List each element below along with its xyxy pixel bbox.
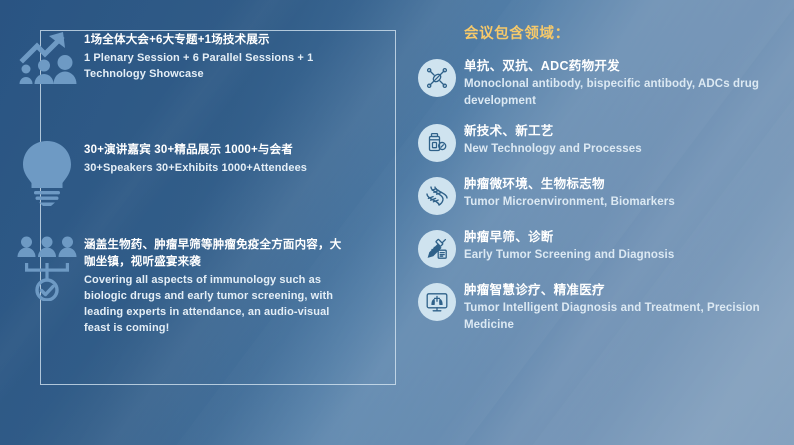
growth-chart-people-icon — [10, 30, 84, 88]
syringe-report-icon — [418, 230, 456, 268]
section-title: 会议包含领域： — [464, 22, 794, 43]
topic-title-cn: 新技术、新工艺 — [464, 122, 642, 140]
pill-bottle-icon — [418, 124, 456, 162]
org-chart-people-check-icon — [10, 235, 84, 301]
topic-item: 新技术、新工艺 New Technology and Processes — [418, 122, 794, 162]
topic-title-cn: 肿瘤微环境、生物标志物 — [464, 175, 675, 193]
feature-title-cn: 1场全体大会+6大专题+1场技术展示 — [84, 32, 350, 49]
feature-title-cn: 30+演讲嘉宾 30+精品展示 1000+与会者 — [84, 142, 307, 159]
topic-title-en: Early Tumor Screening and Diagnosis — [464, 247, 674, 264]
feature-title-en: 1 Plenary Session + 6 Parallel Sessions … — [84, 50, 350, 82]
topic-item: 肿瘤早筛、诊断 Early Tumor Screening and Diagno… — [418, 228, 794, 268]
topic-item: 肿瘤智慧诊疗、精准医疗 Tumor Intelligent Diagnosis … — [418, 281, 794, 333]
topic-title-en: Tumor Microenvironment, Biomarkers — [464, 194, 675, 211]
feature-item: 30+演讲嘉宾 30+精品展示 1000+与会者 30+Speakers 30+… — [10, 140, 350, 206]
topic-title-cn: 肿瘤早筛、诊断 — [464, 228, 674, 246]
dna-helix-icon — [418, 177, 456, 215]
feature-item: 涵盖生物药、肿瘤早筛等肿瘤免疫全方面内容，大咖坐镇，视听盛宴来袭 Coverin… — [10, 235, 350, 336]
monitor-lungs-icon — [418, 283, 456, 321]
feature-title-cn: 涵盖生物药、肿瘤早筛等肿瘤免疫全方面内容，大咖坐镇，视听盛宴来袭 — [84, 237, 350, 271]
topics-column: 会议包含领域： 单抗、双抗、ADC药物开发 Monoclonal antibod… — [418, 22, 794, 346]
topic-item: 肿瘤微环境、生物标志物 Tumor Microenvironment, Biom… — [418, 175, 794, 215]
topic-title-cn: 单抗、双抗、ADC药物开发 — [464, 57, 794, 75]
feature-title-en: 30+Speakers 30+Exhibits 1000+Attendees — [84, 160, 307, 176]
feature-item: 1场全体大会+6大专题+1场技术展示 1 Plenary Session + 6… — [10, 30, 350, 88]
antibody-molecule-icon — [418, 59, 456, 97]
topic-title-en: New Technology and Processes — [464, 141, 642, 158]
topic-title-cn: 肿瘤智慧诊疗、精准医疗 — [464, 281, 794, 299]
topic-item: 单抗、双抗、ADC药物开发 Monoclonal antibody, bispe… — [418, 57, 794, 109]
feature-title-en: Covering all aspects of immunology such … — [84, 272, 350, 336]
topic-title-en: Tumor Intelligent Diagnosis and Treatmen… — [464, 300, 794, 333]
lightbulb-head-icon — [10, 140, 84, 206]
topic-title-en: Monoclonal antibody, bispecific antibody… — [464, 76, 794, 109]
presentation-slide: 1场全体大会+6大专题+1场技术展示 1 Plenary Session + 6… — [0, 0, 794, 445]
